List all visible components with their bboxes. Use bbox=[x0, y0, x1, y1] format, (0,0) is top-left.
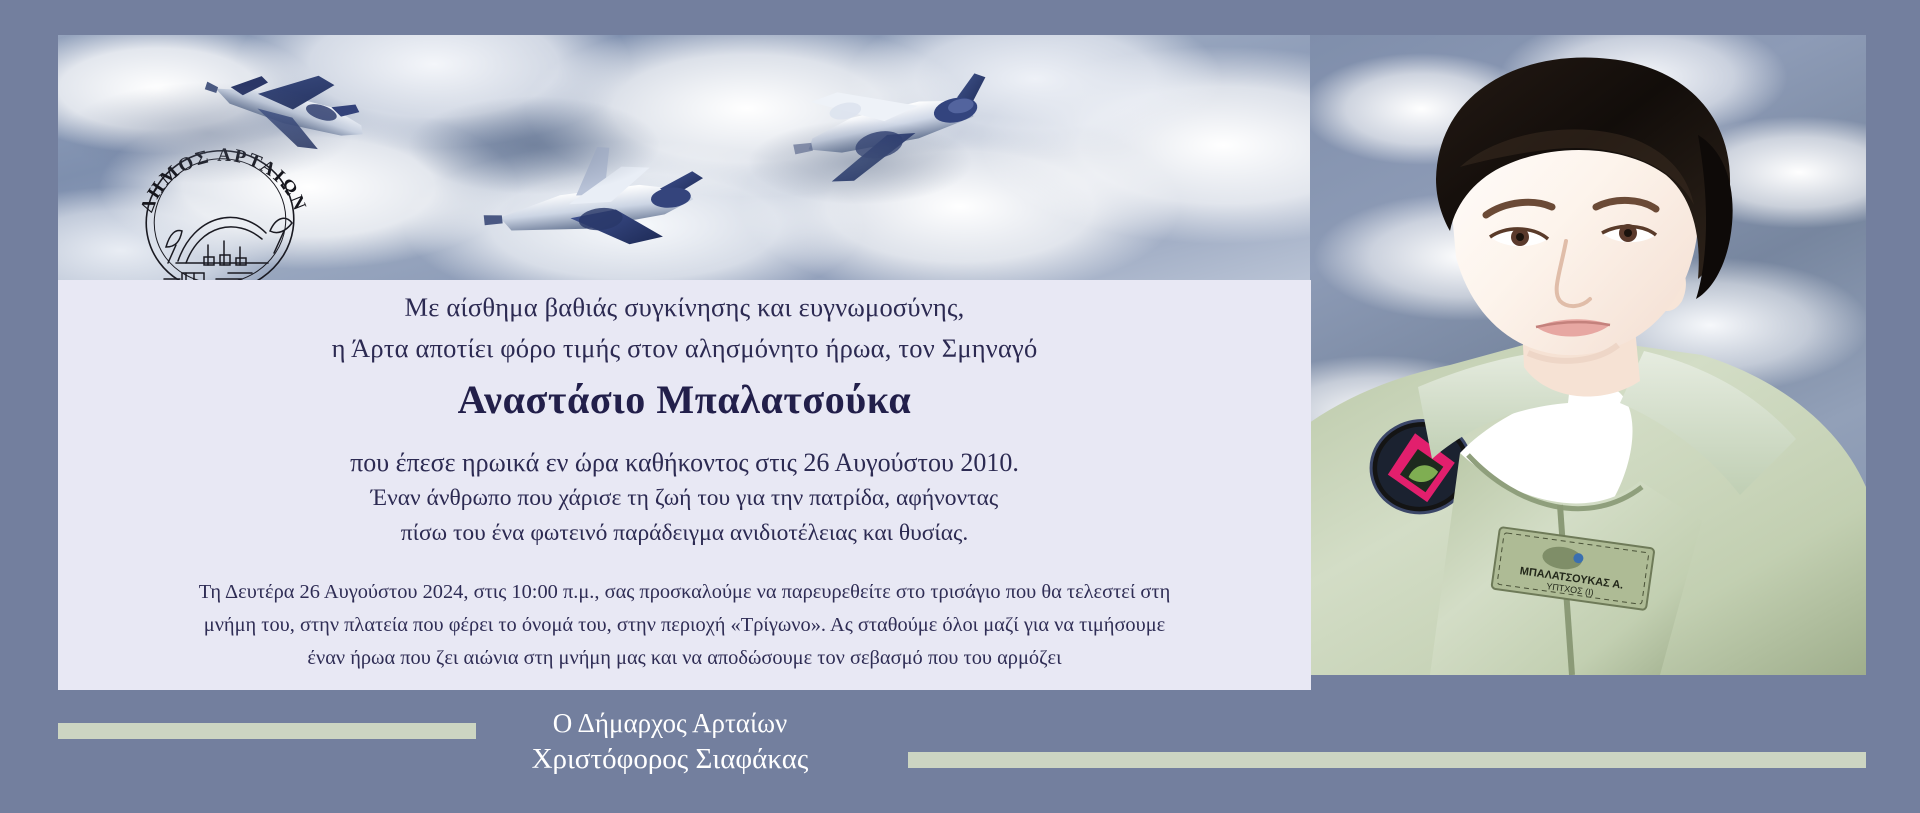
memorial-poster: ΔΗΜΟΣ ΑΡΤΑΙΩΝ bbox=[0, 0, 1920, 813]
invitation-line-2: μνήμη του, στην πλατεία που φέρει το όνο… bbox=[86, 609, 1283, 642]
invitation-card: Με αίσθημα βαθιάς συγκίνησης και ευγνωμο… bbox=[58, 280, 1311, 690]
invitation-line-3: έναν ήρωα που ζει αιώνια στη μνήμη μας κ… bbox=[86, 642, 1283, 675]
honoree-name: Αναστάσιο Μπαλατσούκα bbox=[58, 376, 1311, 423]
fighter-jet-icon bbox=[717, 45, 1019, 235]
decorative-bar-right bbox=[908, 752, 1866, 768]
decorative-bar-left bbox=[58, 723, 476, 739]
mayor-signature: Ο Δήμαρχος Αρταίων Χριστόφορος Σιαφάκας bbox=[430, 706, 910, 779]
jets-sky-banner: ΔΗΜΟΣ ΑΡΤΑΙΩΝ bbox=[58, 35, 1311, 280]
dimos-artaion-seal-icon: ΔΗΜΟΣ ΑΡΤΑΙΩΝ bbox=[120, 113, 320, 280]
mayor-name: Χριστόφορος Σιαφάκας bbox=[430, 741, 910, 779]
invitation-paragraph: Τη Δευτέρα 26 Αυγούστου 2024, στις 10:00… bbox=[86, 576, 1283, 675]
mayor-role: Ο Δήμαρχος Αρταίων bbox=[430, 706, 910, 741]
pilot-portrait-panel: ΜΠΑΛΑΤΣΟΥΚΑΣ Α. ΥΠΤΧΟΣ (Ι) bbox=[1310, 35, 1866, 775]
tribute-line-1: Έναν άνθρωπο που χάρισε τη ζωή του για τ… bbox=[58, 485, 1311, 513]
fighter-jet-icon bbox=[181, 35, 402, 203]
tribute-line-2: πίσω του ένα φωτεινό παράδειγμα ανιδιοτέ… bbox=[58, 520, 1311, 548]
fighter-jet-icon bbox=[460, 133, 742, 280]
invitation-line-1: Τη Δευτέρα 26 Αυγούστου 2024, στις 10:00… bbox=[86, 576, 1283, 609]
intro-line-2: η Άρτα αποτίει φόρο τιμής στον αλησμόνητ… bbox=[58, 333, 1311, 364]
svg-text:ΔΗΜΟΣ ΑΡΤΑΙΩΝ: ΔΗΜΟΣ ΑΡΤΑΙΩΝ bbox=[137, 145, 311, 215]
fallen-date-line: που έπεσε ηρωικά εν ώρα καθήκοντος στις … bbox=[58, 448, 1311, 479]
intro-line-1: Με αίσθημα βαθιάς συγκίνησης και ευγνωμο… bbox=[58, 292, 1311, 323]
pilot-portrait-photo: ΜΠΑΛΑΤΣΟΥΚΑΣ Α. ΥΠΤΧΟΣ (Ι) bbox=[1310, 35, 1866, 675]
